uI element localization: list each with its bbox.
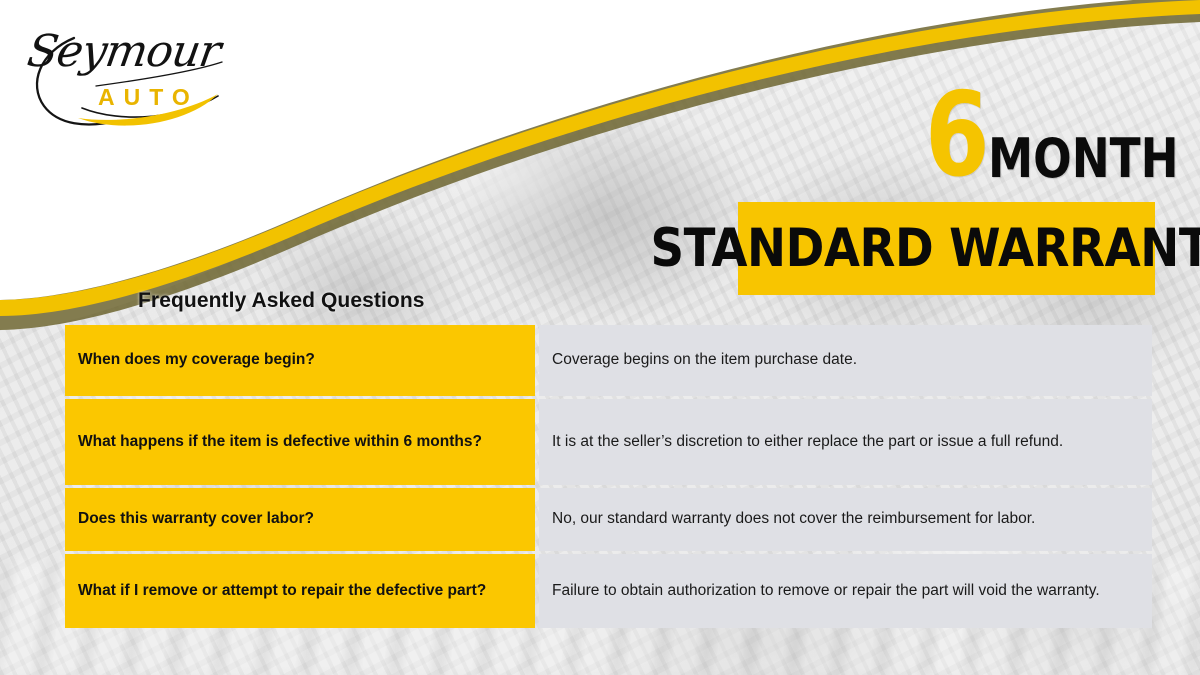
table-row: What happens if the item is defective wi… [65,399,1152,485]
warranty-term-unit: MONTH [988,136,1179,181]
standard-warranty-banner-text: STANDARD WARRANTY [650,222,1200,275]
faq-answer: It is at the seller’s discretion to eith… [539,399,1152,485]
warranty-term: 6 MONTH [925,78,1200,183]
table-row: Does this warranty cover labor? No, our … [65,488,1152,551]
table-row: When does my coverage begin? Coverage be… [65,325,1152,396]
faq-question: When does my coverage begin? [65,325,535,396]
faq-question: What if I remove or attempt to repair th… [65,554,535,628]
table-row: What if I remove or attempt to repair th… [65,554,1152,628]
logo-wordmark: Seymour [24,26,224,77]
logo-subtitle: AUTO [98,84,199,111]
faq-answer: Coverage begins on the item purchase dat… [539,325,1152,396]
warranty-slide: Seymour AUTO 6 MONTH STANDARD WARRANTY F… [0,0,1200,675]
faq-table: When does my coverage begin? Coverage be… [61,322,1156,631]
faq-answer: Failure to obtain authorization to remov… [539,554,1152,628]
faq-question: Does this warranty cover labor? [65,488,535,551]
faq-question: What happens if the item is defective wi… [65,399,535,485]
faq-answer: No, our standard warranty does not cover… [539,488,1152,551]
standard-warranty-banner: STANDARD WARRANTY [738,202,1155,295]
brand-logo[interactable]: Seymour AUTO [22,22,232,134]
faq-heading: Frequently Asked Questions [138,289,425,313]
warranty-term-number: 6 [925,90,988,183]
